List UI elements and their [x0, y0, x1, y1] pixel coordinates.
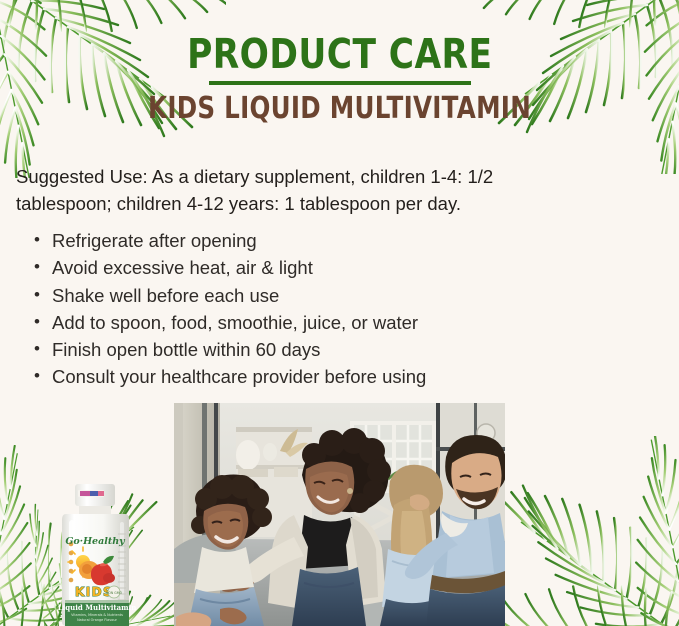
care-instructions-list: Refrigerate after opening Avoid excessiv… [34, 227, 554, 391]
product-bottle-image: Go·Healthy KIDS Liquid Multivitamin [42, 474, 154, 626]
list-item: Avoid excessive heat, air & light [34, 254, 554, 281]
bottle-brand-text: Go·Healthy [65, 536, 126, 547]
title-underline [209, 81, 471, 85]
list-item: Refrigerate after opening [34, 227, 554, 254]
svg-text:Natural Orange Flavour: Natural Orange Flavour [77, 618, 117, 622]
svg-text:Vitamins, Minerals & Nutrients: Vitamins, Minerals & Nutrients [71, 613, 123, 617]
list-item: Finish open bottle within 60 days [34, 336, 554, 363]
page-subtitle: KIDS LIQUID MULTIVITAMIN [148, 94, 531, 124]
family-on-couch-photo [174, 403, 505, 626]
product-care-infographic: PRODUCT CARE KIDS LIQUID MULTIVITAMIN Su… [0, 0, 679, 626]
page-title: PRODUCT CARE [185, 34, 494, 75]
list-item: Consult your healthcare provider before … [34, 363, 554, 390]
suggested-use-text: Suggested Use: As a dietary supplement, … [16, 163, 576, 219]
list-item: Shake well before each use [34, 282, 554, 309]
bottle-product-name-text: Liquid Multivitamin [58, 603, 137, 612]
svg-text:NON GMO: NON GMO [106, 591, 123, 595]
title-block: PRODUCT CARE KIDS LIQUID MULTIVITAMIN [0, 34, 679, 124]
list-item: Add to spoon, food, smoothie, juice, or … [34, 309, 554, 336]
